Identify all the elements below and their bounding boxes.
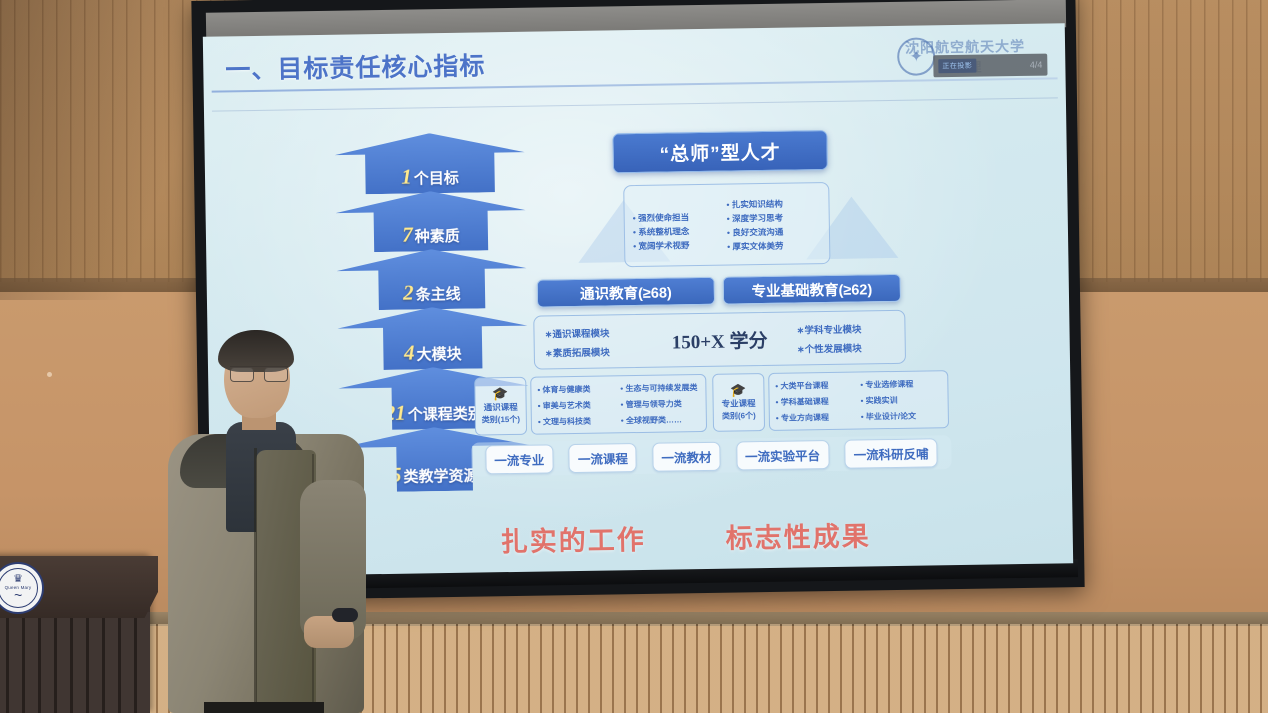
- lectern-body: [0, 612, 150, 713]
- tier-number: 1: [401, 165, 412, 189]
- graduation-cap-icon: 🎓: [492, 387, 508, 400]
- presenter-legs: [204, 702, 324, 713]
- presentation-clicker: [332, 608, 358, 622]
- category-item: 专业方向课程: [776, 411, 857, 423]
- category-tag-line2: 类别(6个): [722, 410, 756, 422]
- tier-number: 4: [404, 341, 415, 365]
- tier-label: 大模块: [416, 346, 461, 364]
- category-column: 体育与健康类 审美与艺术类 文理与科技类: [537, 380, 617, 429]
- category-column: 大类平台课程 学科基础课程 专业方向课程: [775, 377, 857, 426]
- category-block-general: 🎓 通识课程 类别(15个) 体育与健康类 审美与艺术类 文理与科技类 生态与可…: [474, 374, 707, 436]
- modules-box: 通识课程模块 素质拓展模块 150+X 学分 学科专业模块 个性发展模块: [533, 310, 906, 370]
- osd-counter: 4/4: [1030, 60, 1043, 70]
- category-item: 管理与领导力类: [621, 398, 700, 410]
- modules-left: 通识课程模块 素质拓展模块: [534, 324, 651, 359]
- tier-label: 条主线: [415, 286, 460, 304]
- talent-item: 厚实文体美劳: [727, 239, 821, 252]
- presenter: [160, 330, 390, 713]
- category-item: 审美与艺术类: [538, 399, 617, 411]
- category-item: 专业选修课程: [860, 378, 941, 390]
- tier-number: 5: [391, 463, 402, 487]
- light-speck: [47, 372, 52, 377]
- bottom-slogan: 扎实的工作: [500, 518, 646, 559]
- wave-icon: ~: [14, 590, 22, 601]
- credits-label: 150+X 学分: [650, 325, 788, 354]
- talent-item: 宽阔学术视野: [633, 239, 727, 252]
- pyramid-tier: 1个目标: [334, 132, 525, 195]
- talent-item: 强烈使命担当: [633, 211, 727, 224]
- module-item: 通识课程模块: [544, 324, 650, 340]
- category-tag-line2: 类别(15个): [482, 414, 520, 426]
- glasses-icon: [230, 366, 288, 380]
- talent-qualities-box: 强烈使命担当 系统整机理念 宽阔学术视野 扎实知识结构 深度学习思考 良好交流沟…: [623, 182, 830, 267]
- module-item: 素质拓展模块: [545, 343, 651, 359]
- talent-left-column: 强烈使命担当 系统整机理念 宽阔学术视野: [632, 191, 727, 262]
- category-item: 全球视野类……: [621, 414, 700, 426]
- category-tag-line1: 专业课程: [722, 397, 756, 410]
- category-item: 生态与可持续发展类: [620, 382, 699, 394]
- talent-item: 深度学习思考: [727, 211, 821, 224]
- talent-item: 良好交流沟通: [727, 225, 821, 238]
- bottom-slogan: 标志性成果: [725, 514, 871, 555]
- bottom-slogans: 扎实的工作 标志性成果: [460, 514, 911, 560]
- modules-right: 学科专业模块 个性发展模块: [788, 320, 905, 355]
- resource-pill: 一流课程: [569, 443, 637, 473]
- category-item: 体育与健康类: [537, 383, 616, 395]
- pyramid-tier: 7种素质: [335, 190, 526, 253]
- category-column: 专业选修课程 实践实训 毕业设计/论文: [860, 375, 942, 424]
- category-list-general: 体育与健康类 审美与艺术类 文理与科技类 生态与可持续发展类 管理与领导力类 全…: [530, 374, 707, 435]
- tier-number: 2: [403, 281, 414, 305]
- crown-icon: ♛: [13, 574, 23, 585]
- category-block-professional: 🎓 专业课程 类别(6个) 大类平台课程 学科基础课程 专业方向课程 专业选修课…: [712, 370, 949, 432]
- talent-right-column: 扎实知识结构 深度学习思考 良好交流沟通 厚实文体美劳: [726, 189, 821, 260]
- pyramid-tier: 2条主线: [336, 248, 527, 311]
- category-item: 文理与科技类: [538, 415, 617, 427]
- graduation-cap-icon: 🎓: [730, 383, 746, 396]
- talent-heading: “总师”型人才: [612, 130, 828, 173]
- resource-pill: 一流专业: [485, 444, 553, 474]
- osd-status-chip: 正在投影: [938, 59, 976, 74]
- slide-title: 一、目标责任核心指标: [225, 46, 486, 86]
- resource-pill: 一流实验平台: [736, 440, 829, 470]
- category-column: 生态与可持续发展类 管理与领导力类 全球视野类……: [620, 379, 700, 428]
- category-tag-professional: 🎓 专业课程 类别(6个): [712, 373, 765, 432]
- category-list-professional: 大类平台课程 学科基础课程 专业方向课程 专业选修课程 实践实训 毕业设计/论文: [768, 370, 949, 431]
- category-tag-general: 🎓 通识课程 类别(15个): [474, 377, 527, 436]
- tier-label: 种素质: [415, 228, 460, 246]
- resource-pill: 一流教材: [652, 441, 720, 471]
- category-item: 实践实训: [861, 394, 942, 406]
- projector-osd-bar: 正在投影 4/4: [933, 54, 1047, 78]
- tier-label: 个课程类别: [408, 405, 483, 423]
- talent-item: 扎实知识结构: [726, 197, 820, 210]
- category-item: 毕业设计/论文: [861, 410, 942, 422]
- resources-row: 一流专业 一流课程 一流教材 一流实验平台 一流科研反哺: [471, 435, 951, 477]
- talent-item: 系统整机理念: [633, 225, 727, 238]
- tier-label: 类教学资源: [403, 468, 478, 486]
- tier-label: 个目标: [414, 170, 459, 188]
- tier-number: 7: [402, 223, 413, 247]
- category-tag-line1: 通识课程: [484, 401, 518, 414]
- title-divider-secondary: [212, 97, 1058, 111]
- category-item: 学科基础课程: [776, 395, 857, 407]
- presenter-jacket-seam: [254, 448, 257, 713]
- module-item: 学科专业模块: [796, 321, 861, 336]
- category-item: 大类平台课程: [775, 379, 856, 391]
- education-bar-general: 通识教育(≥68): [537, 277, 715, 308]
- module-item: 个性发展模块: [797, 340, 862, 355]
- lecture-hall-scene: ♛ Queen Mary ~ 一、目标责任核心指标 ✦ 沈阳航空航天大学 伦理 …: [0, 0, 1268, 713]
- resource-pill: 一流科研反哺: [844, 438, 937, 468]
- education-bar-professional: 专业基础教育(≥62): [723, 274, 901, 305]
